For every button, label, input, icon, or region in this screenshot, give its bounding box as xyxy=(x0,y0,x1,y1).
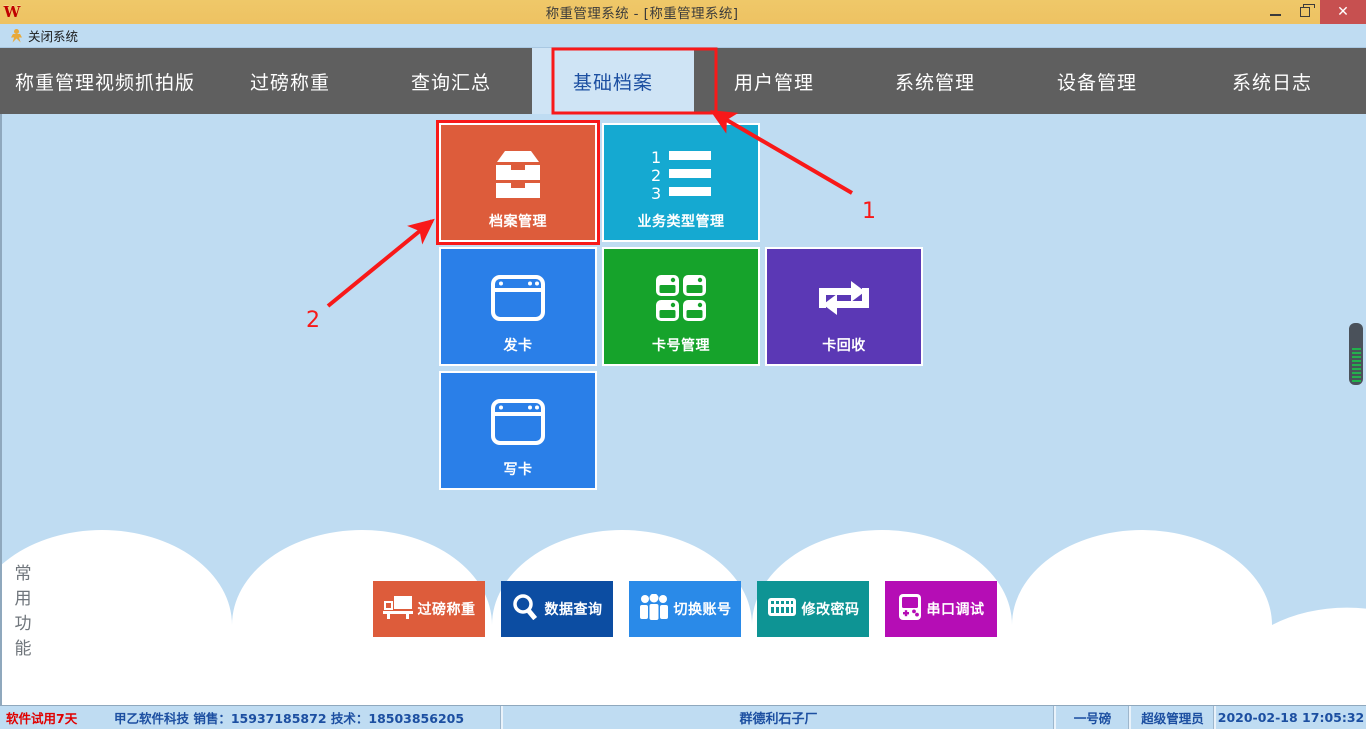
common-functions-label: 常用功能 xyxy=(10,562,36,662)
nav-tab-4[interactable]: 用户管理 xyxy=(694,48,854,114)
tile-label: 写卡 xyxy=(504,459,533,479)
tile-label: 卡回收 xyxy=(822,335,866,355)
svg-text:2: 2 xyxy=(651,166,661,185)
nav-tab-6[interactable]: 设备管理 xyxy=(1016,48,1178,114)
shortcut-1[interactable]: 数据查询 xyxy=(501,581,613,637)
recycle-loop-icon xyxy=(813,276,875,320)
keyboard-icon xyxy=(767,596,797,622)
truck-scale-icon xyxy=(383,594,413,624)
nav-tab-0[interactable]: 称重管理视频抓拍版 xyxy=(0,48,210,114)
scrollbar-thumb[interactable] xyxy=(1349,323,1363,385)
side-label-char: 能 xyxy=(10,637,36,662)
shortcut-label: 过磅称重 xyxy=(418,599,476,619)
magnifier-icon xyxy=(512,594,540,624)
tile-0[interactable]: 档案管理 xyxy=(439,123,597,242)
archive-drawer-icon xyxy=(487,146,549,202)
app-logo-icon: W xyxy=(0,0,24,24)
minimize-button[interactable] xyxy=(1260,0,1290,24)
maximize-button[interactable] xyxy=(1290,0,1320,24)
tile-label: 档案管理 xyxy=(489,211,547,231)
tile-1[interactable]: 1 2 3 业务类型管理 xyxy=(602,123,760,242)
status-user: 超级管理员 xyxy=(1131,706,1216,729)
nav-tab-label: 系统管理 xyxy=(895,68,975,95)
side-label-char: 功 xyxy=(10,612,36,637)
app-window: W 称重管理系统 - [称重管理系统] ✕ 关闭系统 称重管理视频抓拍版过磅称重… xyxy=(0,0,1366,729)
nav-tab-label: 设备管理 xyxy=(1057,68,1137,95)
status-vendor: 甲乙软件科技 销售：15937185872 技术：18503856205 xyxy=(108,706,503,729)
person-icon xyxy=(10,29,23,43)
window-title: 称重管理系统 - [称重管理系统] xyxy=(24,2,1260,22)
shortcut-label: 修改密码 xyxy=(802,599,860,619)
users-icon xyxy=(639,594,669,624)
side-label-char: 常 xyxy=(10,562,36,587)
nav-tab-5[interactable]: 系统管理 xyxy=(854,48,1016,114)
tile-4[interactable]: 卡回收 xyxy=(765,247,923,366)
tile-grid: 档案管理 1 2 3 业务类型管理 发卡 xyxy=(439,123,928,495)
tile-row: 发卡 卡号管理 卡回收 xyxy=(439,247,928,371)
main-navigation: 称重管理视频抓拍版过磅称重查询汇总基础档案用户管理系统管理设备管理系统日志 xyxy=(0,48,1366,114)
nav-tab-3[interactable]: 基础档案 xyxy=(532,48,694,114)
card-window-icon xyxy=(490,398,546,446)
truck-scale-icon xyxy=(383,594,413,620)
gamepad-icon xyxy=(898,593,922,625)
tile-3[interactable]: 卡号管理 xyxy=(602,247,760,366)
card-grid-icon xyxy=(653,273,709,323)
shortcut-0[interactable]: 过磅称重 xyxy=(373,581,485,637)
close-button[interactable]: ✕ xyxy=(1320,0,1366,24)
nav-tab-label: 系统日志 xyxy=(1232,68,1312,95)
tile-5[interactable]: 写卡 xyxy=(439,371,597,490)
users-icon xyxy=(639,594,669,620)
shortcut-4[interactable]: 串口调试 xyxy=(885,581,997,637)
nav-tab-label: 查询汇总 xyxy=(411,68,491,95)
shortcut-label: 数据查询 xyxy=(545,599,603,619)
status-datetime: 2020-02-18 17:05:32 xyxy=(1216,706,1366,729)
menu-item-close-system[interactable]: 关闭系统 xyxy=(0,25,86,47)
status-bar: 软件试用7天 甲乙软件科技 销售：15937185872 技术：18503856… xyxy=(0,705,1366,729)
nav-tab-label: 过磅称重 xyxy=(250,68,330,95)
content-area: 档案管理 1 2 3 业务类型管理 发卡 xyxy=(0,114,1366,705)
shortcut-label: 切换账号 xyxy=(674,599,732,619)
side-label-char: 用 xyxy=(10,587,36,612)
numbered-list-icon: 1 2 3 xyxy=(604,145,758,203)
card-window-icon xyxy=(441,269,595,327)
status-trial: 软件试用7天 xyxy=(0,706,108,729)
keyboard-icon xyxy=(767,596,797,618)
archive-drawer-icon xyxy=(441,145,595,203)
tile-row: 写卡 xyxy=(439,371,928,495)
vertical-scrollbar[interactable] xyxy=(1344,114,1366,705)
status-scale: 一号磅 xyxy=(1056,706,1131,729)
card-window-icon xyxy=(490,274,546,322)
nav-tab-label: 用户管理 xyxy=(734,68,814,95)
shortcut-2[interactable]: 切换账号 xyxy=(629,581,741,637)
svg-text:1: 1 xyxy=(651,148,661,167)
card-grid-icon xyxy=(604,269,758,327)
nav-tab-1[interactable]: 过磅称重 xyxy=(210,48,370,114)
tile-2[interactable]: 发卡 xyxy=(439,247,597,366)
title-bar: W 称重管理系统 - [称重管理系统] ✕ xyxy=(0,0,1366,24)
nav-tab-label: 基础档案 xyxy=(573,68,653,95)
nav-tab-7[interactable]: 系统日志 xyxy=(1178,48,1366,114)
shortcut-bar: 过磅称重 数据查询 切换账号 修改密码 xyxy=(373,581,997,637)
recycle-loop-icon xyxy=(767,269,921,327)
svg-text:3: 3 xyxy=(651,184,661,200)
nav-tab-2[interactable]: 查询汇总 xyxy=(370,48,532,114)
menu-strip: 关闭系统 xyxy=(0,24,1366,48)
shortcut-3[interactable]: 修改密码 xyxy=(757,581,869,637)
tile-label: 卡号管理 xyxy=(652,335,710,355)
status-plant-name: 群德利石子厂 xyxy=(503,706,1056,729)
gamepad-icon xyxy=(898,593,922,621)
annotation-number-2: 2 xyxy=(306,308,320,333)
window-controls: ✕ xyxy=(1260,0,1366,24)
annotation-number-1: 1 xyxy=(862,199,876,224)
magnifier-icon xyxy=(512,594,540,620)
tile-label: 业务类型管理 xyxy=(638,211,725,231)
shortcut-label: 串口调试 xyxy=(927,599,985,619)
menu-item-label: 关闭系统 xyxy=(28,26,78,45)
tile-label: 发卡 xyxy=(504,335,533,355)
nav-tab-label: 称重管理视频抓拍版 xyxy=(15,68,195,95)
card-window-icon xyxy=(441,393,595,451)
tile-row: 档案管理 1 2 3 业务类型管理 xyxy=(439,123,928,247)
numbered-list-icon: 1 2 3 xyxy=(649,148,713,200)
